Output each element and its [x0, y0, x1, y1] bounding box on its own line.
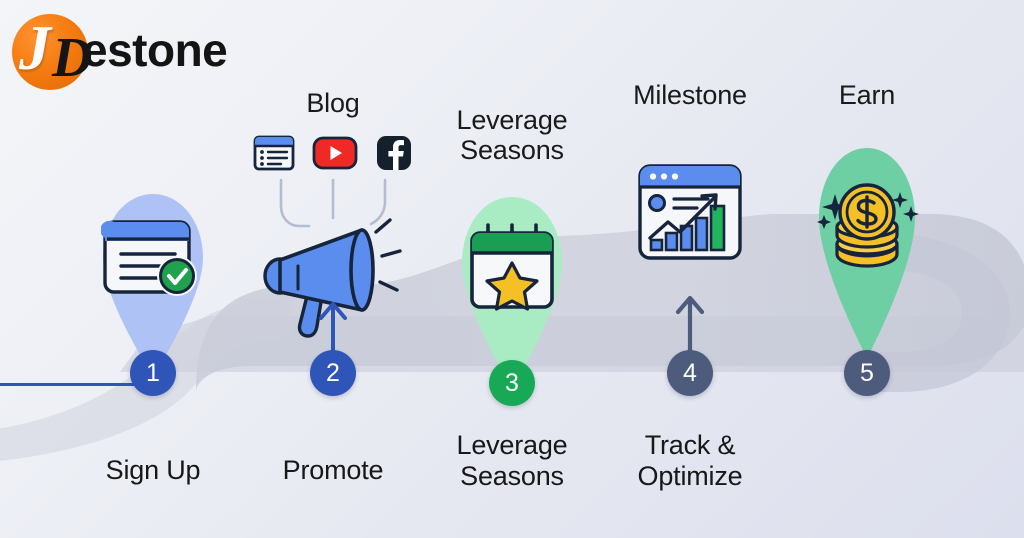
- step-3-top-label-line-1: Leverage: [412, 105, 612, 135]
- blog-article-icon[interactable]: [253, 134, 295, 172]
- step-number-5[interactable]: 5: [844, 350, 890, 396]
- step-5-earn[interactable]: Earn 5: [767, 80, 967, 420]
- entry-line-left: [0, 383, 145, 386]
- step-2-top-label-text: Blog: [306, 88, 359, 118]
- step-4-top-label-text: Milestone: [633, 80, 747, 110]
- logo-badge: J D: [8, 8, 94, 92]
- calendar-star-icon: [466, 221, 558, 315]
- step-2-top-label: Blog: [233, 88, 433, 118]
- logo-letter-d: D: [52, 30, 92, 86]
- youtube-icon[interactable]: [312, 134, 358, 172]
- brand-logo[interactable]: J D estone: [8, 8, 227, 92]
- step-3-top-label: Leverage Seasons: [412, 105, 612, 165]
- facebook-icon[interactable]: [375, 134, 413, 172]
- step-2-label-text: Promote: [283, 455, 384, 485]
- step-number-4-value: 4: [683, 359, 697, 388]
- channel-icons-row: [253, 134, 413, 172]
- step-5-top-label: Earn: [767, 80, 967, 110]
- step-number-4[interactable]: 4: [667, 350, 713, 396]
- registration-form-check-icon: [101, 218, 205, 304]
- step-3-label: Leverage Seasons: [412, 430, 612, 492]
- step-number-2[interactable]: 2: [310, 350, 356, 396]
- step-4-top-label: Milestone: [590, 80, 790, 110]
- step-number-1[interactable]: 1: [130, 350, 176, 396]
- step-3-leverage-seasons[interactable]: Leverage Seasons 3 Leverage Seasons: [412, 105, 612, 515]
- step-4-track-optimize[interactable]: Milestone 4: [590, 80, 790, 510]
- step-number-5-value: 5: [860, 359, 874, 388]
- step-3-top-label-line-2: Seasons: [412, 135, 612, 165]
- step-1-label: Sign Up: [53, 455, 253, 486]
- step-3-label-line-1: Leverage: [412, 430, 612, 461]
- infographic-canvas: J D estone 1 Sign Up: [0, 0, 1024, 538]
- step-1-label-text: Sign Up: [106, 455, 201, 485]
- step-2-promote[interactable]: Blog: [233, 88, 433, 508]
- step-4-label-line-1: Track &: [590, 430, 790, 461]
- step-number-2-value: 2: [326, 359, 340, 388]
- step-2-label: Promote: [233, 455, 433, 486]
- step-4-label: Track & Optimize: [590, 430, 790, 492]
- step-5-top-label-text: Earn: [839, 80, 895, 110]
- step-number-1-value: 1: [146, 359, 160, 388]
- step-3-label-line-2: Seasons: [412, 461, 612, 492]
- logo-letter-j: J: [19, 16, 51, 80]
- analytics-dashboard-icon: [636, 162, 744, 262]
- coins-stack-icon: [810, 170, 924, 272]
- step-4-label-line-2: Optimize: [590, 461, 790, 492]
- step-number-3[interactable]: 3: [489, 360, 535, 406]
- step-number-3-value: 3: [505, 369, 519, 398]
- step-1-sign-up[interactable]: 1 Sign Up: [53, 180, 253, 510]
- logo-wordmark: estone: [82, 23, 227, 77]
